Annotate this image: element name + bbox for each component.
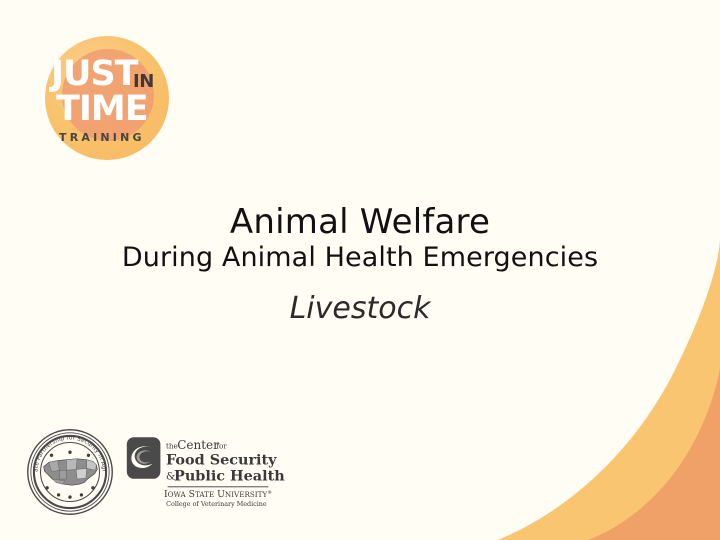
svg-text:Public Health: Public Health bbox=[174, 467, 285, 484]
slide-subtitle: During Animal Health Emergencies bbox=[0, 242, 720, 274]
cfsph-wordmark: the Center for Food Security & Public He… bbox=[166, 438, 285, 484]
slide-title: Animal Welfare bbox=[0, 202, 720, 242]
title-block: Animal Welfare During Animal Health Emer… bbox=[0, 202, 720, 327]
center-for-food-security-and-public-health-logo: the Center for Food Security & Public He… bbox=[126, 434, 286, 510]
svg-text:College of Veterinary Medicine: College of Veterinary Medicine bbox=[166, 500, 267, 508]
logo-text-group: JUST IN TIME TRAINING bbox=[45, 36, 169, 160]
footer-logo-group: Multi-State Partnership for Security in … bbox=[26, 428, 286, 516]
svg-text:Food Security: Food Security bbox=[166, 451, 277, 468]
svg-text:IOWA STATE UNIVERSITY®: IOWA STATE UNIVERSITY® bbox=[164, 489, 272, 500]
logo-word-just: JUST bbox=[51, 57, 138, 92]
svg-text:the: the bbox=[166, 441, 178, 450]
svg-text:Center: Center bbox=[177, 438, 219, 452]
cfsph-swirl-mark bbox=[127, 437, 161, 479]
just-in-time-training-logo: JUST IN TIME TRAINING bbox=[45, 36, 169, 160]
svg-text:for: for bbox=[216, 441, 227, 450]
corner-swoop-dark bbox=[588, 368, 720, 540]
cfsph-university-text: IOWA STATE UNIVERSITY® College of Veteri… bbox=[164, 489, 272, 508]
seal-us-map bbox=[44, 459, 98, 485]
logo-word-time: TIME bbox=[56, 92, 148, 127]
logo-word-training: TRAINING bbox=[59, 132, 145, 143]
multi-state-partnership-seal: Multi-State Partnership for Security in … bbox=[26, 428, 114, 516]
slide-canvas: JUST IN TIME TRAINING Animal Welfare Dur… bbox=[0, 0, 720, 540]
slide-species-label: Livestock bbox=[0, 291, 720, 327]
